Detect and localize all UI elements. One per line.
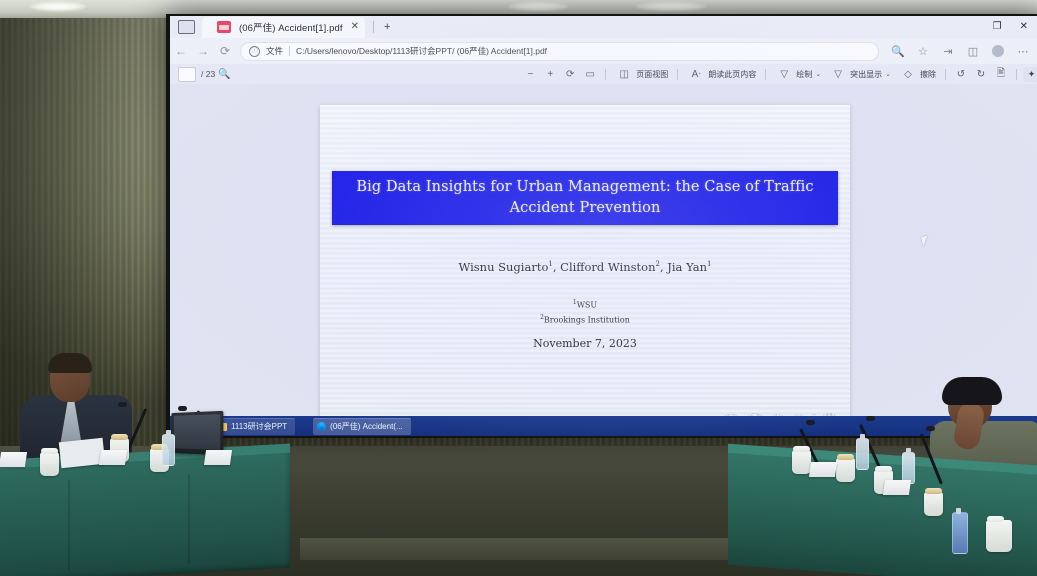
microphone-head — [926, 426, 935, 431]
tab-divider — [373, 21, 374, 33]
url-text: C:/Users/lenovo/Desktop/1113研讨会PPT/ (06严… — [296, 45, 547, 57]
tab-title: (06严佳) Accident[1].pdf — [239, 20, 343, 34]
browser-tabstrip: (06严佳) Accident[1].pdf ✕ + ❐ ✕ — [170, 16, 1037, 38]
url-divider — [289, 46, 290, 56]
erase-button[interactable]: ◇ 擦除 — [896, 69, 939, 80]
zoom-icon[interactable]: 🔍 — [887, 45, 909, 58]
windows-taskbar: 1113研讨会PPT (06严佳) Accident(... — [170, 416, 1037, 436]
pdf-file-icon — [217, 21, 231, 33]
page-number-input[interactable] — [178, 67, 196, 82]
eraser-icon: ◇ — [899, 69, 917, 80]
toolbar-divider — [677, 69, 678, 80]
nameplate — [204, 450, 232, 465]
water-bottle — [162, 434, 175, 466]
microphone-head — [866, 416, 875, 421]
slide-authors: Wisnu Sugiarto1, Clifford Winston2, Jia … — [320, 260, 850, 274]
pdf-viewer[interactable]: Big Data Insights for Urban Management: … — [170, 84, 1037, 432]
nameplate — [99, 450, 127, 465]
floor-cable-strip — [300, 538, 730, 560]
search-icon[interactable]: 🔍 — [215, 69, 233, 80]
back-icon[interactable]: ← — [170, 44, 192, 58]
teacup — [40, 452, 59, 476]
new-tab-button[interactable]: + — [384, 22, 390, 33]
url-scheme-label: 文件 — [266, 45, 283, 57]
page-view-label: 页面视图 — [636, 69, 668, 80]
nameplate — [0, 452, 27, 467]
mouse-cursor — [921, 235, 930, 246]
erase-label: 擦除 — [920, 69, 936, 80]
refresh-icon[interactable]: ⟳ — [214, 44, 236, 58]
ceiling-light — [508, 2, 568, 11]
slide-title: Big Data Insights for Urban Management: … — [332, 177, 838, 219]
forward-icon[interactable]: → — [192, 44, 214, 58]
split-screen-icon[interactable]: ◫ — [962, 45, 984, 58]
settings-more-icon[interactable]: ⋯ — [1012, 45, 1034, 58]
pin-toolbar-icon[interactable]: ✦ — [1023, 67, 1037, 82]
read-aloud-button[interactable]: Aᐧ 朗读此页内容 — [684, 69, 759, 80]
pdf-page: Big Data Insights for Urban Management: … — [320, 105, 850, 427]
taskbar-item-label: (06严佳) Accident(... — [330, 421, 402, 432]
toolbar-divider — [945, 69, 946, 80]
zoom-out-button[interactable]: − — [521, 69, 539, 80]
save-icon[interactable]: 🖹 — [992, 66, 1010, 83]
zoom-in-button[interactable]: + — [541, 69, 559, 80]
taskbar-item-edge[interactable]: (06严佳) Accident(... — [313, 418, 410, 435]
pdf-zoom-group: − + ⟳ ▭ ◫ 页面视图 Aᐧ 朗读此页内容 ▽ 绘制 ⌄ — [521, 66, 1037, 83]
read-aloud-label: 朗读此页内容 — [708, 69, 756, 80]
teacup — [986, 520, 1012, 552]
browser-navbar: ← → ⟳ ⓘ 文件 C:/Users/lenovo/Desktop/1113研… — [170, 38, 1037, 64]
toolbar-divider — [1016, 69, 1017, 80]
page-total-label: / 23 — [201, 69, 215, 79]
conference-room-scene: (06严佳) Accident[1].pdf ✕ + ❐ ✕ ← → ⟳ ⓘ 文… — [0, 0, 1037, 576]
site-info-icon[interactable]: ⓘ — [249, 46, 260, 57]
tablecloth-fold — [188, 474, 190, 564]
laptop — [171, 411, 223, 455]
affiliation-2: 2Brookings Institution — [320, 312, 850, 327]
taskbar-item-folder[interactable]: 1113研讨会PPT — [214, 418, 295, 435]
undo-icon[interactable]: ↺ — [952, 69, 970, 80]
slide-affiliations: 1WSU 2Brookings Institution — [320, 297, 850, 326]
collections-icon[interactable]: ⇥ — [937, 45, 959, 58]
tablecloth-fold — [68, 480, 70, 570]
teacup — [924, 492, 943, 516]
browser-tab[interactable]: (06严佳) Accident[1].pdf ✕ — [202, 17, 365, 38]
highlight-button[interactable]: ▽ 突出显示 ⌄ — [826, 69, 894, 80]
toolbar-divider — [605, 69, 606, 80]
address-bar[interactable]: ⓘ 文件 C:/Users/lenovo/Desktop/1113研讨会PPT/… — [240, 42, 879, 61]
maximize-button[interactable]: ❐ — [993, 22, 1002, 32]
navbar-actions: 🔍 ☆ ⇥ ◫ ⋯ — [887, 45, 1037, 58]
microphone-head — [118, 402, 127, 407]
page-view-icon: ◫ — [615, 69, 633, 80]
favorites-star-icon[interactable]: ☆ — [912, 45, 934, 58]
highlight-icon: ▽ — [829, 69, 847, 80]
microphone-head — [178, 406, 187, 411]
draw-pen-icon: ▽ — [775, 69, 793, 80]
nameplate — [809, 462, 837, 477]
profile-avatar-icon[interactable] — [992, 45, 1004, 57]
pdf-toolbar: / 23 🔍 − + ⟳ ▭ ◫ 页面视图 Aᐧ 朗读此页内容 — [170, 64, 1037, 84]
person-hair — [48, 353, 92, 373]
teacup — [836, 458, 855, 482]
affiliation-1: 1WSU — [320, 297, 850, 312]
toolbar-divider — [765, 69, 766, 80]
microphone-head — [806, 420, 815, 425]
redo-icon[interactable]: ↻ — [972, 69, 990, 80]
tab-list-icon[interactable] — [178, 20, 195, 34]
ceiling-light — [30, 2, 86, 11]
slide-title-band: Big Data Insights for Urban Management: … — [332, 171, 838, 225]
draw-label: 绘制 — [796, 69, 812, 80]
ceiling-light — [636, 2, 706, 11]
chevron-down-icon[interactable]: ⌄ — [815, 70, 821, 78]
water-bottle — [856, 438, 869, 470]
slide-date: November 7, 2023 — [320, 337, 850, 350]
nameplate — [883, 480, 911, 495]
rotate-button[interactable]: ⟳ — [561, 69, 579, 80]
fit-page-button[interactable]: ▭ — [581, 69, 599, 80]
chevron-down-icon[interactable]: ⌄ — [885, 70, 891, 78]
close-tab-icon[interactable]: ✕ — [351, 22, 359, 32]
teacup — [792, 450, 811, 474]
window-controls: ❐ ✕ — [993, 22, 1037, 32]
close-window-button[interactable]: ✕ — [1020, 22, 1028, 32]
draw-button[interactable]: ▽ 绘制 ⌄ — [772, 69, 824, 80]
projected-browser-window: (06严佳) Accident[1].pdf ✕ + ❐ ✕ ← → ⟳ ⓘ 文… — [170, 16, 1037, 436]
page-view-button[interactable]: ◫ 页面视图 — [612, 69, 671, 80]
taskbar-item-label: 1113研讨会PPT — [231, 421, 287, 432]
edge-icon — [317, 422, 326, 431]
read-aloud-icon: Aᐧ — [687, 69, 705, 80]
person-cap — [942, 377, 1002, 405]
highlight-label: 突出显示 — [850, 69, 882, 80]
water-bottle — [952, 512, 968, 554]
